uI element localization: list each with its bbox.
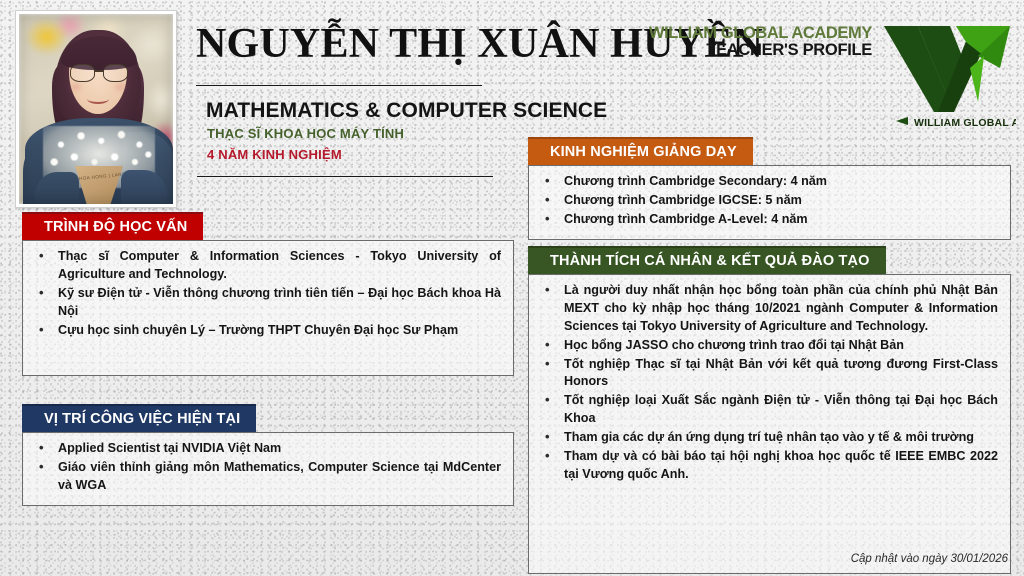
position-list: Applied Scientist tại NVIDIA Việt Nam Gi… <box>33 440 501 495</box>
william-w-logo-icon: WILLIAM GLOBAL ACADEMY <box>878 16 1016 134</box>
years-experience-label: 4 NĂM KINH NGHIỆM <box>207 147 342 162</box>
section-education: TRÌNH ĐỘ HỌC VẤN Thạc sĩ Computer & Info… <box>22 212 514 376</box>
teaching-list: Chương trình Cambridge Secondary: 4 năm … <box>539 173 998 229</box>
list-item: Tham dự và có bài báo tại hội nghị khoa … <box>539 448 998 484</box>
section-achievements-title: THÀNH TÍCH CÁ NHÂN & KẾT QUẢ ĐÀO TẠO <box>528 246 886 274</box>
logo-caption-group: WILLIAM GLOBAL ACADEMY <box>896 117 1016 129</box>
list-item: Chương trình Cambridge Secondary: 4 năm <box>539 173 998 191</box>
section-teaching-experience-body: Chương trình Cambridge Secondary: 4 năm … <box>528 165 1011 240</box>
list-item: Tốt nghiệp Thạc sĩ tại Nhật Bản với kết … <box>539 356 998 392</box>
photo-vignette <box>19 14 173 204</box>
subject-heading: MATHEMATICS & COMPUTER SCIENCE <box>206 99 676 123</box>
section-achievements-body: Là người duy nhất nhận học bổng toàn phầ… <box>528 274 1011 574</box>
section-achievements: THÀNH TÍCH CÁ NHÂN & KẾT QUẢ ĐÀO TẠO Là … <box>528 246 1011 574</box>
list-item: Cựu học sinh chuyên Lý – Trường THPT Chu… <box>33 322 501 340</box>
section-education-title: TRÌNH ĐỘ HỌC VẤN <box>22 212 203 240</box>
section-current-position-title: VỊ TRÍ CÔNG VIỆC HIỆN TẠI <box>22 404 256 432</box>
list-item: Tham gia các dự án ứng dụng trí tuệ nhân… <box>539 429 998 447</box>
section-current-position-body: Applied Scientist tại NVIDIA Việt Nam Gi… <box>22 432 514 506</box>
list-item: Applied Scientist tại NVIDIA Việt Nam <box>33 440 501 458</box>
achievements-list: Là người duy nhất nhận học bổng toàn phầ… <box>539 282 998 484</box>
page-title: NGUYỄN THỊ XUÂN HUYỀN <box>196 22 676 66</box>
list-item: Chương trình Cambridge IGCSE: 5 năm <box>539 192 998 210</box>
brand-subtitle: TEACHER'S PROFILE <box>706 41 872 60</box>
teacher-photo: HOA HONG | LANG <box>16 11 176 207</box>
section-teaching-experience: KINH NGHIỆM GIẢNG DẠY Chương trình Cambr… <box>528 137 1011 240</box>
last-updated-note: Cập nhật vào ngày 30/01/2026 <box>851 553 1008 565</box>
photo-artwork: HOA HONG | LANG <box>19 14 173 204</box>
degree-label: THẠC SĨ KHOA HỌC MÁY TÍNH <box>207 126 404 141</box>
list-item: Tốt nghiệp loại Xuất Sắc ngành Điện tử -… <box>539 392 998 428</box>
list-item: Giáo viên thỉnh giảng môn Mathematics, C… <box>33 459 501 495</box>
divider-under-subtitle <box>197 176 493 177</box>
education-list: Thạc sĩ Computer & Information Sciences … <box>33 248 501 339</box>
section-current-position: VỊ TRÍ CÔNG VIỆC HIỆN TẠI Applied Scient… <box>22 404 514 506</box>
svg-text:WILLIAM GLOBAL ACADEMY: WILLIAM GLOBAL ACADEMY <box>914 117 1016 129</box>
list-item: Chương trình Cambridge A-Level: 4 năm <box>539 211 998 229</box>
list-item: Kỹ sư Điện tử - Viễn thông chương trình … <box>33 285 501 321</box>
section-education-body: Thạc sĩ Computer & Information Sciences … <box>22 240 514 376</box>
section-teaching-experience-title: KINH NGHIỆM GIẢNG DẠY <box>528 137 753 165</box>
list-item: Thạc sĩ Computer & Information Sciences … <box>33 248 501 284</box>
list-item: Học bổng JASSO cho chương trình trao đổi… <box>539 337 998 355</box>
list-item: Là người duy nhất nhận học bổng toàn phầ… <box>539 282 998 336</box>
divider-under-name <box>196 85 482 86</box>
